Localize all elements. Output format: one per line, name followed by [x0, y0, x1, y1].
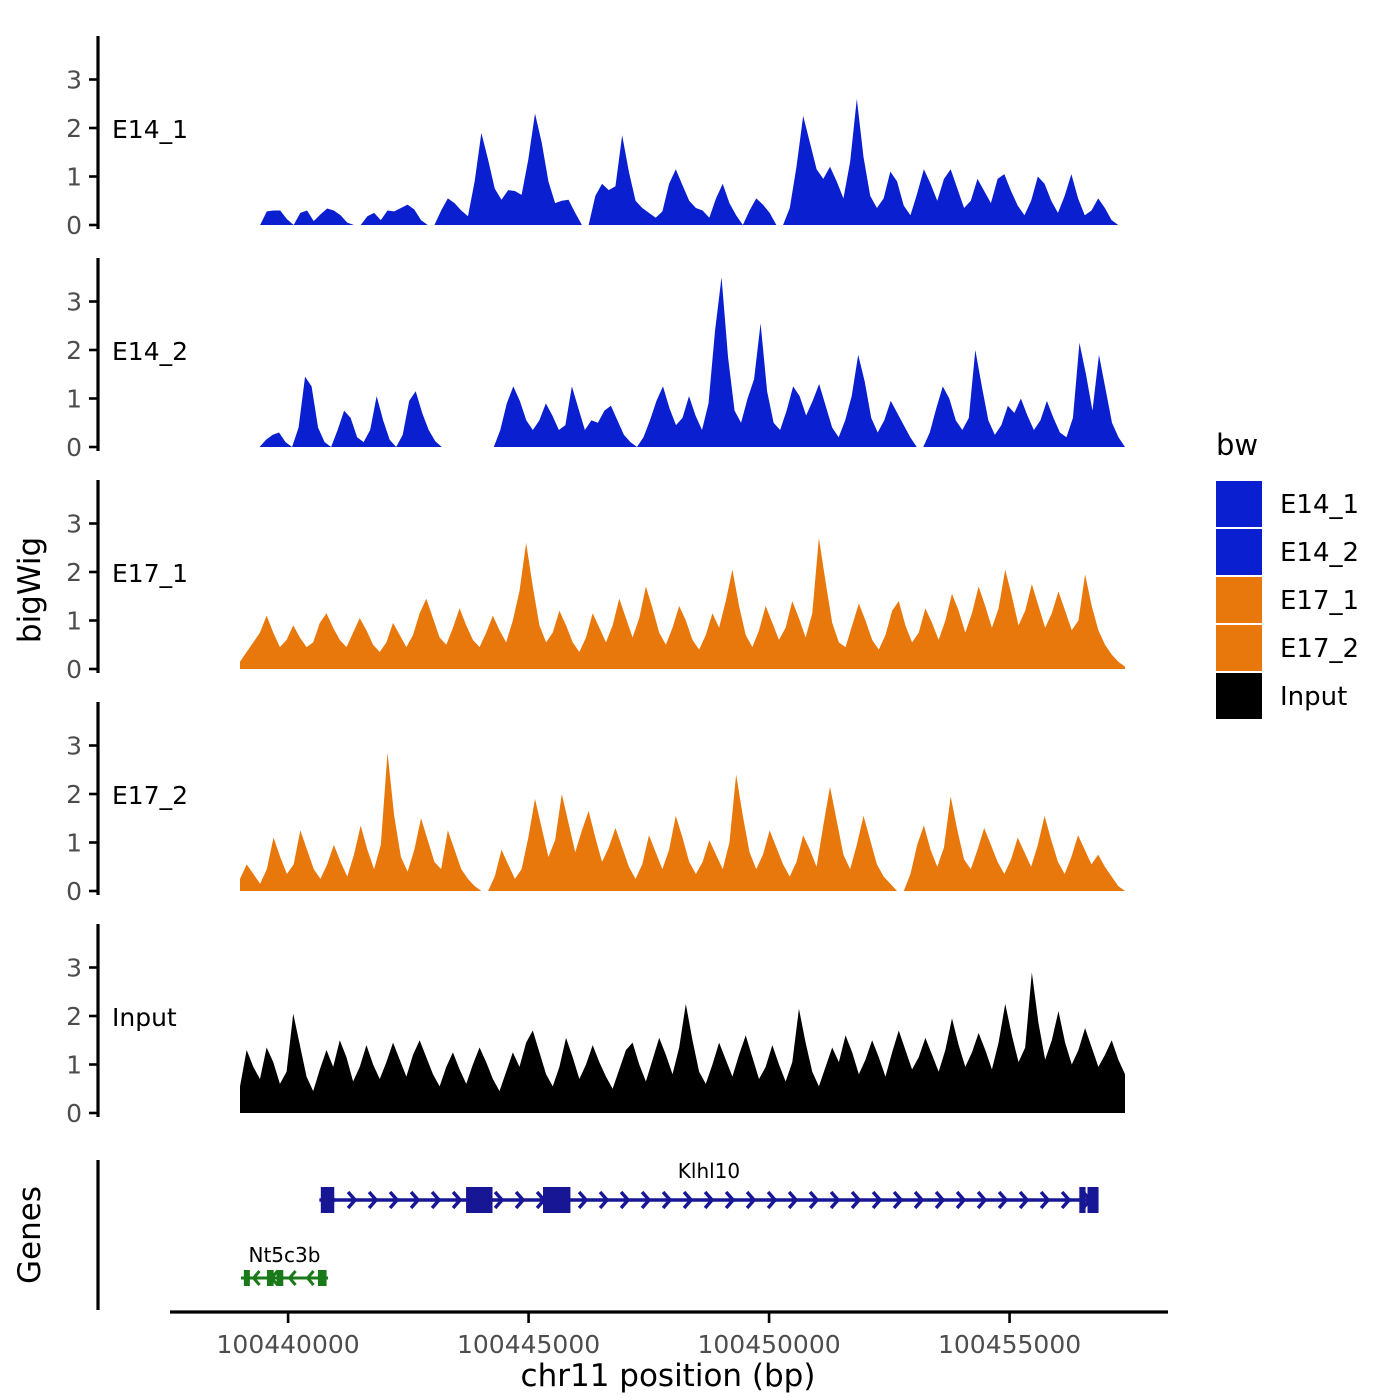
gene-exon — [318, 1270, 327, 1286]
gene-exon — [267, 1270, 274, 1286]
bigwig-area-E14_1 — [240, 99, 1125, 225]
genes-strip-title: Genes — [12, 1186, 48, 1284]
x-tick-label-100440000: 100440000 — [217, 1330, 360, 1359]
x-tick-label-100455000: 100455000 — [938, 1330, 1081, 1359]
y-tick-label-E17_2-2: 2 — [66, 780, 82, 809]
y-tick-label-E17_1-3: 3 — [66, 510, 82, 539]
gene-exon — [1079, 1187, 1085, 1213]
bigwig-axis-title: bigWig — [12, 537, 48, 643]
gene-exon — [321, 1187, 334, 1213]
legend-label-E14_1: E14_1 — [1280, 490, 1359, 520]
y-tick-label-E17_2-3: 3 — [66, 732, 82, 761]
y-tick-label-E14_1-0: 0 — [66, 211, 82, 240]
x-tick-label-100450000: 100450000 — [697, 1330, 840, 1359]
y-tick-label-Input-3: 3 — [66, 954, 82, 983]
legend-label-E17_2: E17_2 — [1280, 634, 1359, 664]
y-tick-label-E17_1-0: 0 — [66, 655, 82, 684]
legend-swatch-E17_1[interactable] — [1216, 577, 1262, 623]
legend-swatch-Input[interactable] — [1216, 673, 1262, 719]
legend-swatch-E17_2[interactable] — [1216, 625, 1262, 671]
y-tick-label-E14_1-1: 1 — [66, 163, 82, 192]
gene-exon — [244, 1270, 250, 1286]
y-tick-label-E17_2-1: 1 — [66, 829, 82, 858]
panel-label-E14_2: E14_2 — [112, 337, 188, 366]
y-tick-label-E17_2-0: 0 — [66, 877, 82, 906]
gene-exon — [543, 1187, 570, 1213]
bigwig-area-E17_2 — [240, 753, 1125, 891]
gene-Klhl10: Klhl10 — [319, 1159, 1098, 1213]
y-tick-label-E14_2-2: 2 — [66, 336, 82, 365]
gene-label-Klhl10: Klhl10 — [678, 1159, 740, 1183]
legend-swatch-E14_2[interactable] — [1216, 529, 1262, 575]
legend-label-Input: Input — [1280, 682, 1347, 712]
y-tick-label-E14_1-3: 3 — [66, 66, 82, 95]
bigwig-area-E17_1 — [240, 538, 1125, 669]
legend-title: bw — [1216, 428, 1258, 462]
panel-label-Input: Input — [112, 1003, 177, 1032]
y-tick-label-E14_2-3: 3 — [66, 288, 82, 317]
y-tick-label-E14_1-2: 2 — [66, 114, 82, 143]
y-tick-label-Input-2: 2 — [66, 1002, 82, 1031]
gene-exon — [466, 1187, 492, 1213]
legend-label-E17_1: E17_1 — [1280, 586, 1359, 616]
bigwig-area-Input — [240, 972, 1125, 1113]
y-tick-label-Input-1: 1 — [66, 1051, 82, 1080]
gene-Nt5c3b: Nt5c3b — [241, 1243, 328, 1286]
legend-swatch-E14_1[interactable] — [1216, 481, 1262, 527]
genome-browser-figure: 0123E14_10123E14_20123E17_10123E17_20123… — [0, 0, 1400, 1400]
gene-exon — [277, 1270, 284, 1286]
y-tick-label-E14_2-0: 0 — [66, 433, 82, 462]
legend-label-E14_2: E14_2 — [1280, 538, 1359, 568]
y-tick-label-E17_1-2: 2 — [66, 558, 82, 587]
panel-label-E17_2: E17_2 — [112, 781, 188, 810]
x-tick-label-100445000: 100445000 — [457, 1330, 600, 1359]
panel-label-E14_1: E14_1 — [112, 115, 188, 144]
x-axis-title: chr11 position (bp) — [521, 1358, 816, 1394]
y-tick-label-E17_1-1: 1 — [66, 607, 82, 636]
y-tick-label-E14_2-1: 1 — [66, 385, 82, 414]
panel-label-E17_1: E17_1 — [112, 559, 188, 588]
bigwig-area-E14_2 — [240, 277, 1125, 447]
gene-label-Nt5c3b: Nt5c3b — [249, 1243, 321, 1267]
y-tick-label-Input-0: 0 — [66, 1099, 82, 1128]
gene-exon — [1087, 1187, 1098, 1213]
